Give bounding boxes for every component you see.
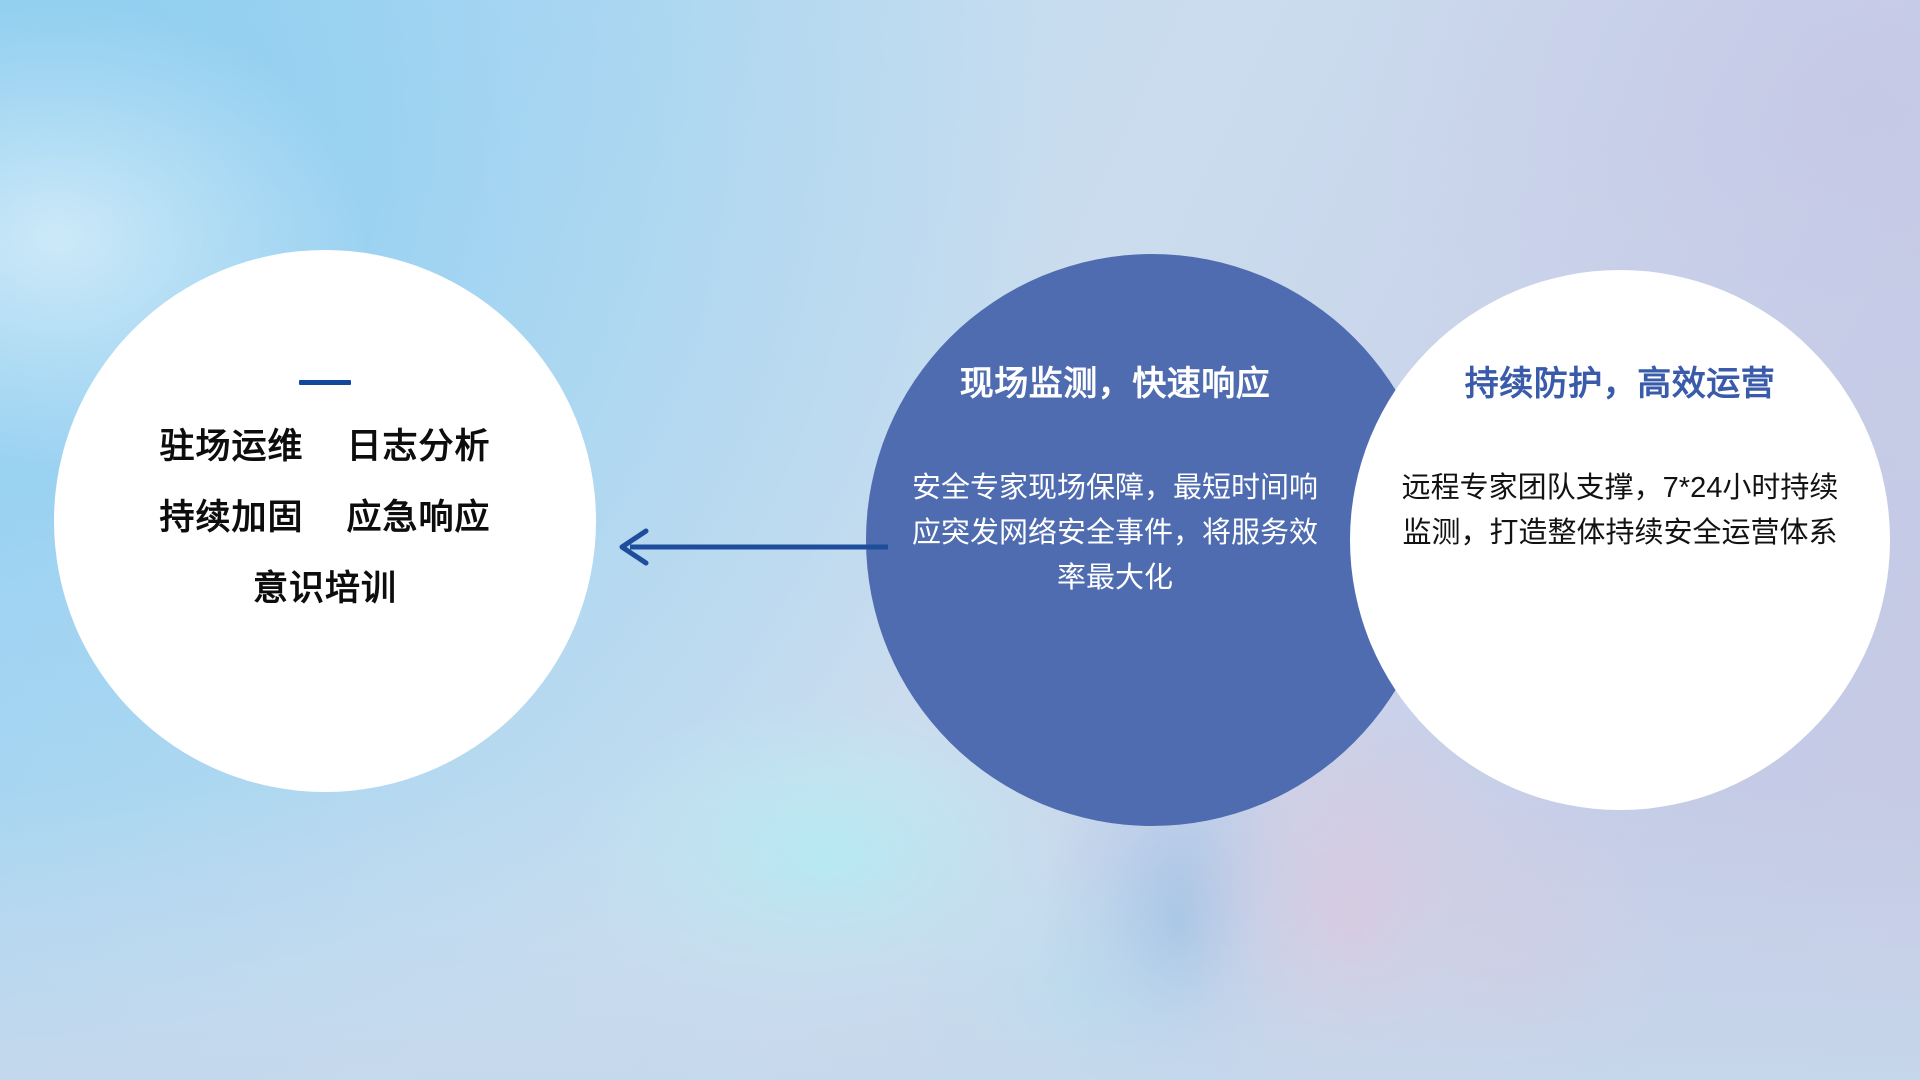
capability-line-3: 意识培训 (64, 571, 586, 606)
capability-line-1: 驻场运维 日志分析 (64, 429, 586, 464)
continuous-protection-body: 远程专家团队支撑，7*24小时持续监测，打造整体持续安全运营体系 (1392, 466, 1848, 556)
continuous-protection-title: 持续防护，高效运营 (1392, 365, 1848, 404)
onsite-monitoring-title: 现场监测，快速响应 (900, 365, 1330, 404)
capabilities-circle-content: 驻场运维 日志分析 持续加固 应急响应 意识培训 (64, 380, 586, 606)
accent-divider-line (299, 380, 351, 385)
left-pointing-arrow-icon (600, 520, 890, 576)
onsite-monitoring-body: 安全专家现场保障，最短时间响应突发网络安全事件，将服务效率最大化 (900, 466, 1330, 601)
capability-line-2: 持续加固 应急响应 (64, 500, 586, 535)
slide-canvas: 驻场运维 日志分析 持续加固 应急响应 意识培训 现场监测，快速响应 安全专家现… (0, 0, 1920, 1080)
continuous-protection-content: 持续防护，高效运营 远程专家团队支撑，7*24小时持续监测，打造整体持续安全运营… (1392, 365, 1848, 556)
onsite-monitoring-content: 现场监测，快速响应 安全专家现场保障，最短时间响应突发网络安全事件，将服务效率最… (900, 365, 1330, 601)
